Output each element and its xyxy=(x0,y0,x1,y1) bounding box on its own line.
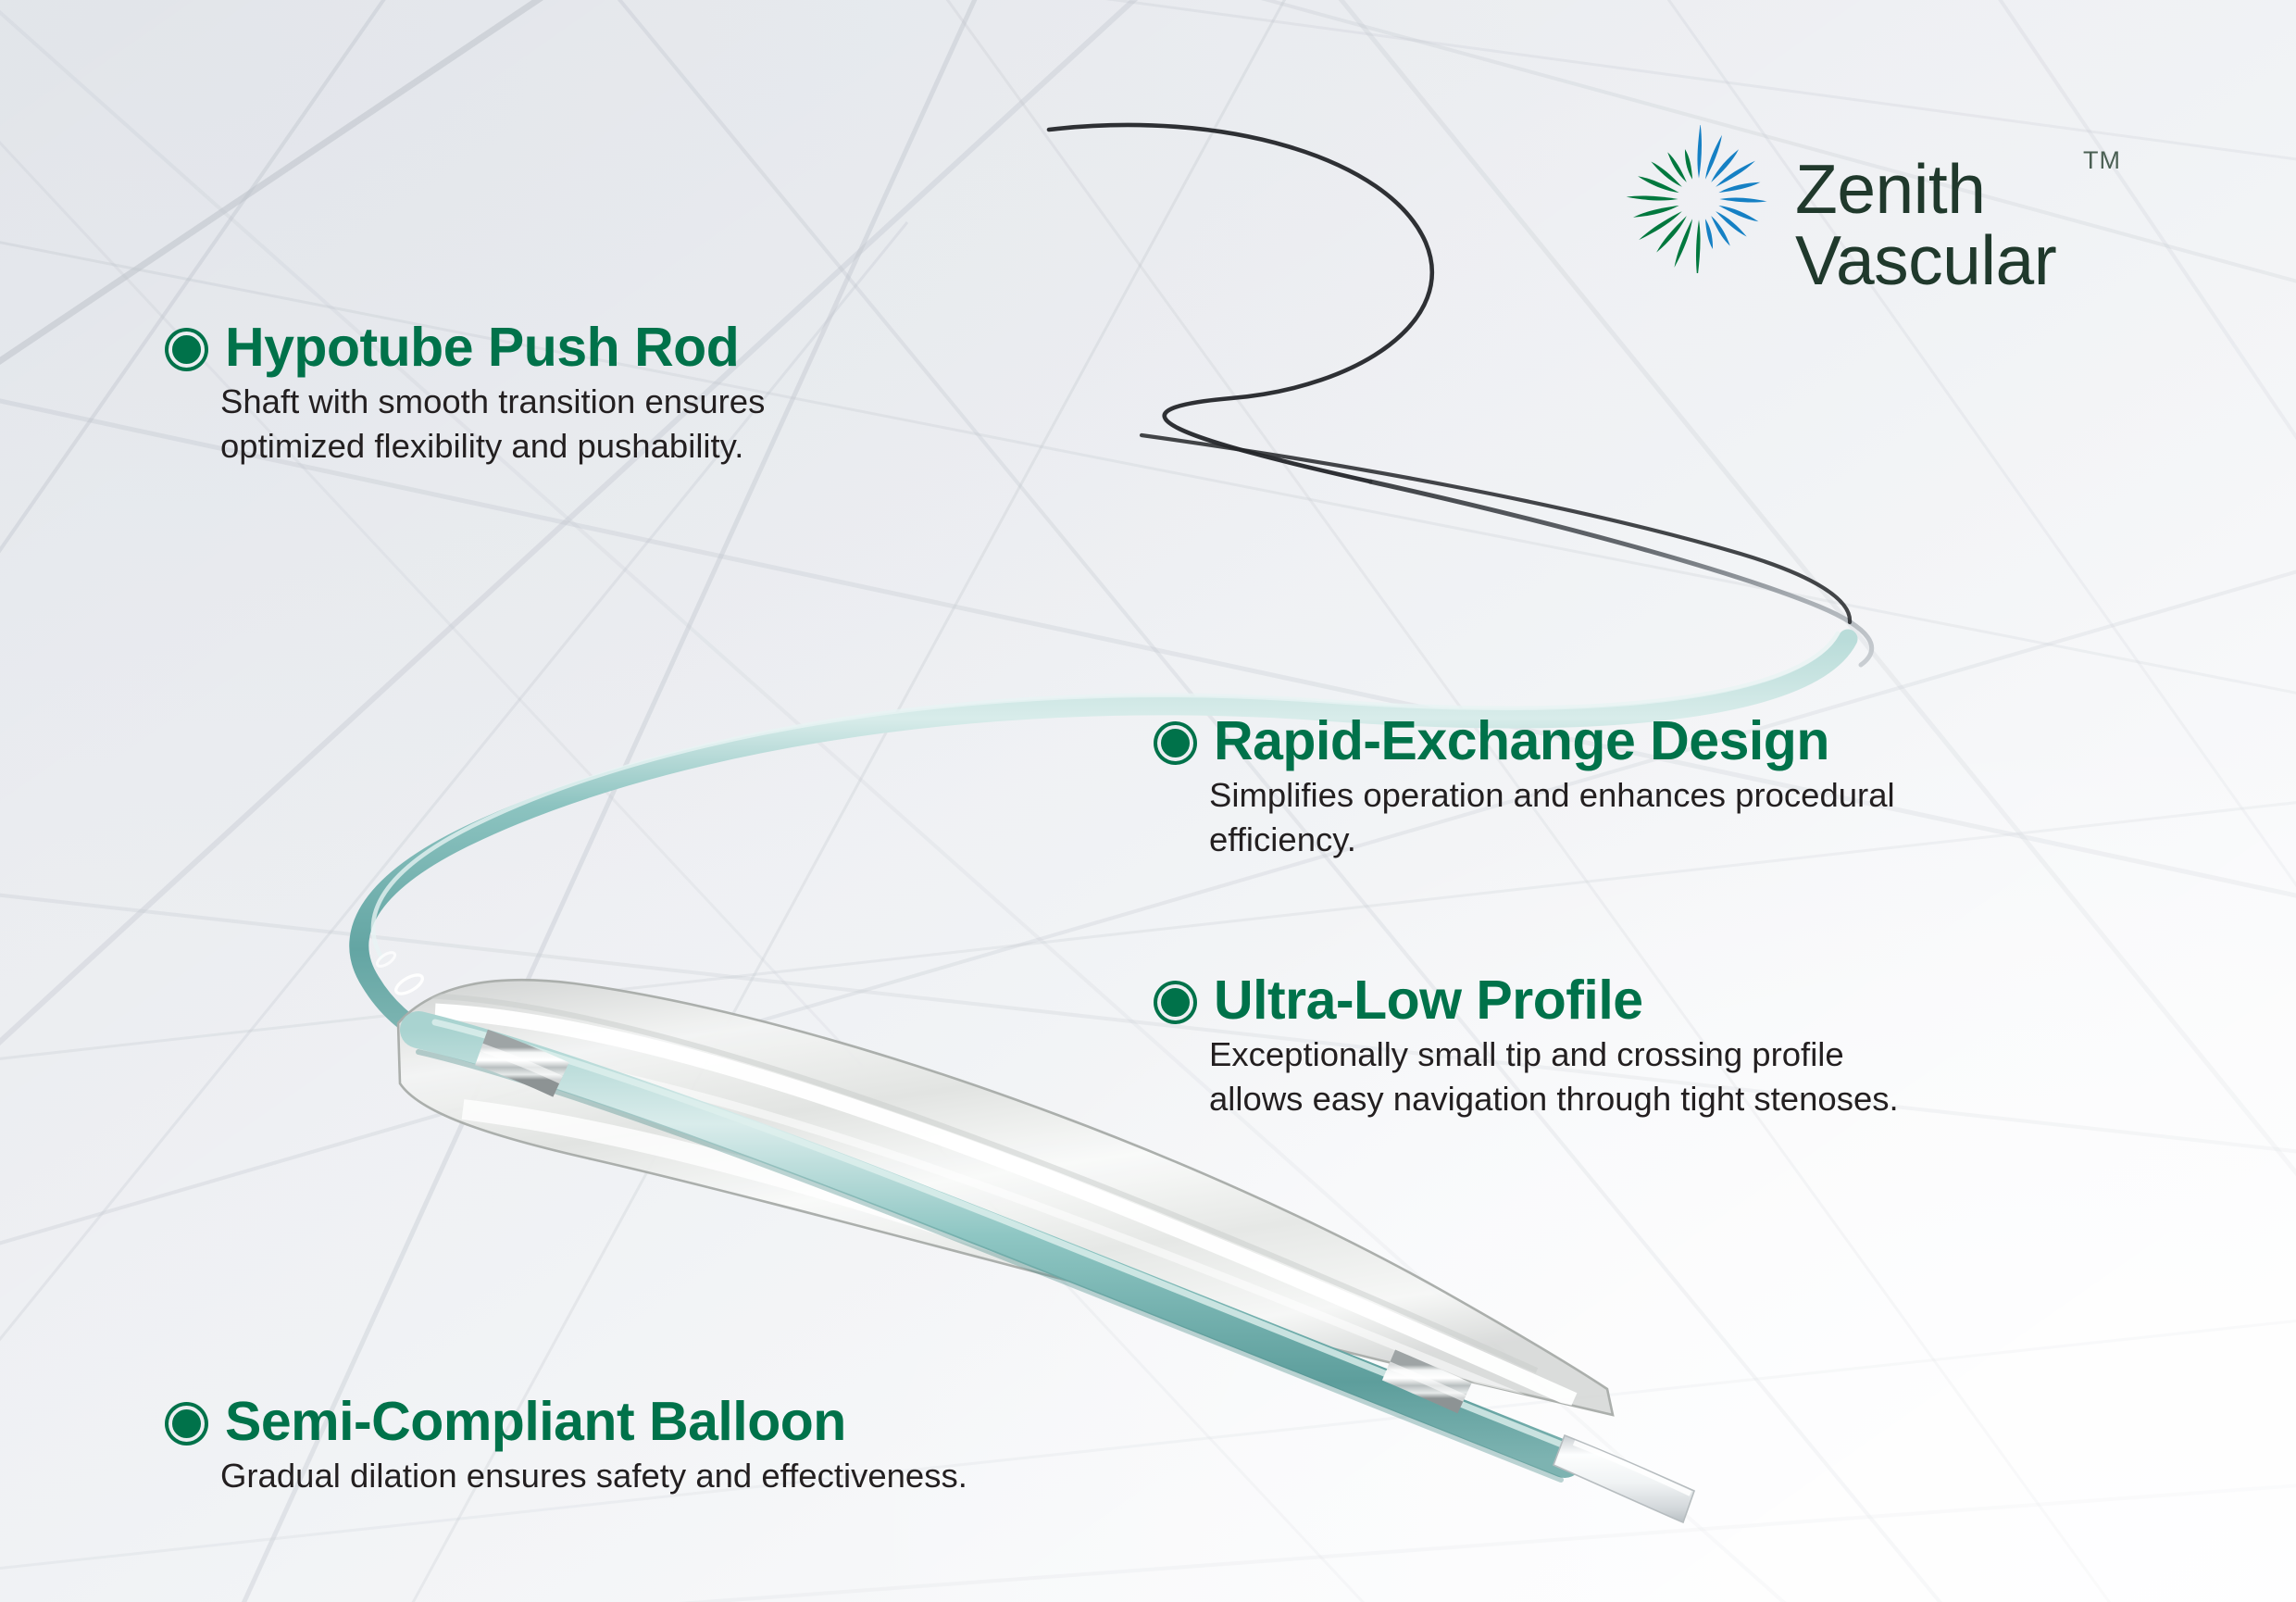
brand-name-line1: Zenith xyxy=(1795,150,1985,228)
trademark-symbol: TM xyxy=(2083,148,2121,174)
callout-body-line: Exceptionally small tip and crossing pro… xyxy=(1209,1033,1899,1076)
callout-body-line: allows easy navigation through tight ste… xyxy=(1209,1077,1899,1120)
brand-name-line2: Vascular xyxy=(1795,225,2056,296)
callout-body: Gradual dilation ensures safety and effe… xyxy=(168,1454,967,1497)
bullet-icon xyxy=(168,332,205,368)
callout-ultra-low-profile: Ultra-Low Profile Exceptionally small ti… xyxy=(1157,972,1899,1120)
bullet-icon xyxy=(1157,725,1193,761)
callout-body-line: Simplifies operation and enhances proced… xyxy=(1209,773,1895,817)
callout-title: Hypotube Push Rod xyxy=(168,319,765,376)
callout-body-line: Gradual dilation ensures safety and effe… xyxy=(220,1454,967,1497)
callout-rapid-exchange-design: Rapid-Exchange Design Simplifies operati… xyxy=(1157,713,1895,861)
atraumatic-soft-tip xyxy=(1554,1435,1694,1522)
callout-title: Rapid-Exchange Design xyxy=(1157,713,1895,770)
callout-title-text: Ultra-Low Profile xyxy=(1214,972,1643,1029)
callout-body: Shaft with smooth transition ensures opt… xyxy=(168,380,765,468)
bullet-icon xyxy=(168,1406,205,1442)
brand-logo: Zenith TM Vascular xyxy=(1625,125,2056,324)
callout-body-line: efficiency. xyxy=(1209,818,1895,861)
callout-body: Exceptionally small tip and crossing pro… xyxy=(1157,1033,1899,1120)
callout-title-text: Semi-Compliant Balloon xyxy=(225,1394,846,1450)
brand-wordmark: Zenith TM Vascular xyxy=(1795,154,2056,295)
product-feature-graphic: Hypotube Push Rod Shaft with smooth tran… xyxy=(0,0,2296,1602)
callout-body: Simplifies operation and enhances proced… xyxy=(1157,773,1895,861)
callout-title-text: Hypotube Push Rod xyxy=(225,319,739,376)
callout-title-text: Rapid-Exchange Design xyxy=(1214,713,1829,770)
callout-hypotube-push-rod: Hypotube Push Rod Shaft with smooth tran… xyxy=(168,319,765,468)
callout-title: Ultra-Low Profile xyxy=(1157,972,1899,1029)
callout-body-line: Shaft with smooth transition ensures xyxy=(220,380,765,423)
radial-burst-logo-icon xyxy=(1625,125,1773,324)
bullet-icon xyxy=(1157,984,1193,1020)
callout-title: Semi-Compliant Balloon xyxy=(168,1394,967,1450)
callout-semi-compliant-balloon: Semi-Compliant Balloon Gradual dilation … xyxy=(168,1394,967,1498)
callout-body-line: optimized flexibility and pushability. xyxy=(220,424,765,468)
